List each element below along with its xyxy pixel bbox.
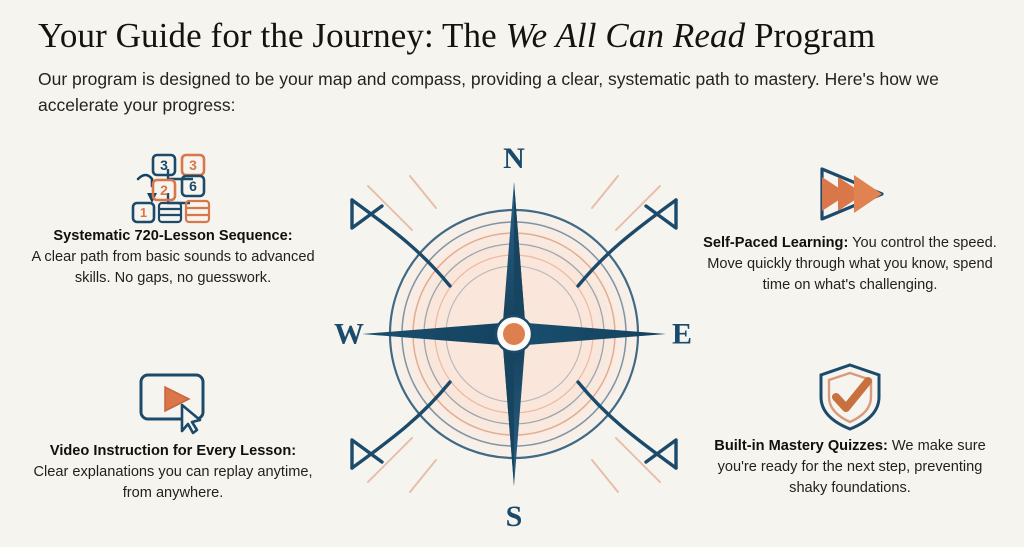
page-title-program-name: We All Can Read: [506, 16, 746, 55]
icon-wrap-paced: [700, 155, 1000, 233]
feature-caption-quizzes: Built-in Mastery Quizzes: We make sure y…: [700, 436, 1000, 499]
page-title-part2: Program: [745, 16, 875, 55]
svg-text:3: 3: [160, 157, 168, 173]
fast-forward-icon: [808, 163, 892, 225]
icon-wrap-quizzes: [700, 358, 1000, 436]
feature-lead-paced: Self-Paced Learning:: [703, 235, 848, 251]
feature-caption-sequence: Systematic 720-Lesson Sequence:A clear p…: [23, 226, 323, 289]
feature-self-paced-learning: Self-Paced Learning: You control the spe…: [700, 155, 1000, 296]
svg-text:2: 2: [160, 182, 168, 198]
compass-label-west: W: [334, 320, 364, 350]
infographic-page: Your Guide for the Journey: The We All C…: [0, 0, 1024, 547]
page-subtitle: Our program is designed to be your map a…: [38, 66, 978, 118]
feature-caption-paced: Self-Paced Learning: You control the spe…: [700, 233, 1000, 296]
feature-lead-sequence: Systematic 720-Lesson Sequence:: [23, 226, 323, 247]
feature-body-video: Clear explanations you can replay anytim…: [33, 464, 312, 501]
icon-wrap-sequence: 3 3 2 6 1: [23, 148, 323, 226]
compass-label-south: S: [506, 502, 523, 532]
feature-lead-quizzes: Built-in Mastery Quizzes:: [714, 438, 888, 454]
svg-text:3: 3: [189, 157, 197, 173]
feature-systematic-sequence: 3 3 2 6 1: [23, 148, 323, 289]
svg-text:6: 6: [189, 178, 197, 194]
compass-rose-graphic: [326, 136, 702, 536]
page-title-part1: Your Guide for the Journey: The: [38, 16, 506, 55]
feature-video-instruction: Video Instruction for Every Lesson:Clear…: [23, 363, 323, 504]
compass-label-north: N: [503, 144, 525, 174]
feature-lead-video: Video Instruction for Every Lesson:: [23, 441, 323, 462]
feature-mastery-quizzes: Built-in Mastery Quizzes: We make sure y…: [700, 358, 1000, 499]
compass-label-east: E: [672, 320, 692, 350]
feature-caption-video: Video Instruction for Every Lesson:Clear…: [23, 441, 323, 504]
page-title: Your Guide for the Journey: The We All C…: [38, 14, 988, 58]
video-player-cursor-icon: [127, 369, 219, 435]
icon-wrap-video: [23, 363, 323, 441]
svg-text:1: 1: [140, 205, 147, 220]
shield-check-icon: [813, 361, 887, 433]
compass-illustration: N S W E: [326, 136, 702, 536]
numbered-blocks-icon: 3 3 2 6 1: [125, 149, 221, 225]
feature-body-sequence: A clear path from basic sounds to advanc…: [31, 249, 314, 286]
